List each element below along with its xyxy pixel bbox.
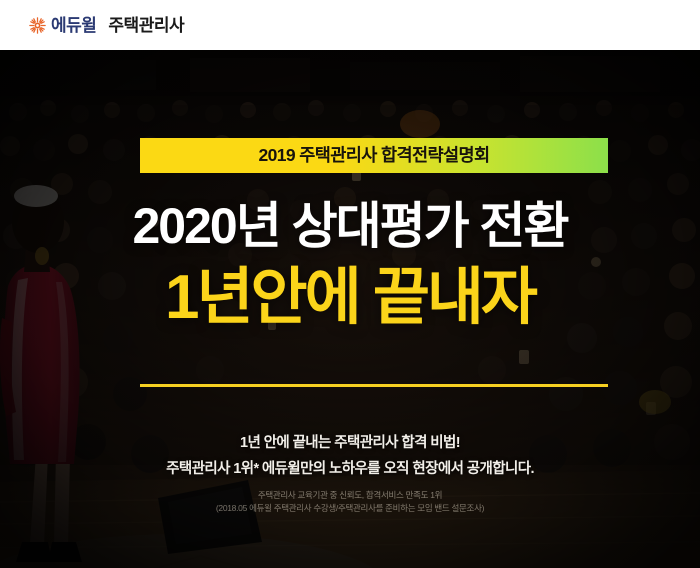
sunburst-icon [29, 17, 46, 34]
hero-fineprint-line-2: (2018.05 에듀윌 주택관리사 수강생/주택관리사를 준비하는 모임 밴드… [0, 503, 700, 513]
brand-name: 에듀윌 [51, 17, 96, 34]
event-ribbon: 2019 주택관리사 합격전략설명회 [140, 138, 608, 173]
event-ribbon-label: 2019 주택관리사 합격전략설명회 [258, 147, 489, 165]
hero-headline-primary: 2020년 상대평가 전환 [0, 198, 700, 254]
brand-logo[interactable]: 에듀윌 주택관리사 [29, 17, 184, 34]
site-header: 에듀윌 주택관리사 [0, 0, 700, 50]
hero-headline-emphasis: 1년안에 끝내자 [0, 265, 700, 332]
hero-banner: 2019 주택관리사 합격전략설명회 2020년 상대평가 전환 1년안에 끝내… [0, 50, 700, 568]
hero-fineprint-line-1: 주택관리사 교육기관 중 신뢰도, 합격서비스 만족도 1위 [0, 490, 700, 500]
hero-content: 2019 주택관리사 합격전략설명회 2020년 상대평가 전환 1년안에 끝내… [0, 50, 700, 568]
promo-landing-page: 에듀윌 주택관리사 [0, 0, 700, 568]
hero-divider-line [140, 384, 608, 387]
hero-subtext-line-2: 주택관리사 1위* 에듀윌만의 노하우를 오직 현장에서 공개합니다. [0, 462, 700, 478]
hero-subtext-line-1: 1년 안에 끝내는 주택관리사 합격 비법! [0, 436, 700, 452]
brand-subject: 주택관리사 [108, 17, 184, 34]
